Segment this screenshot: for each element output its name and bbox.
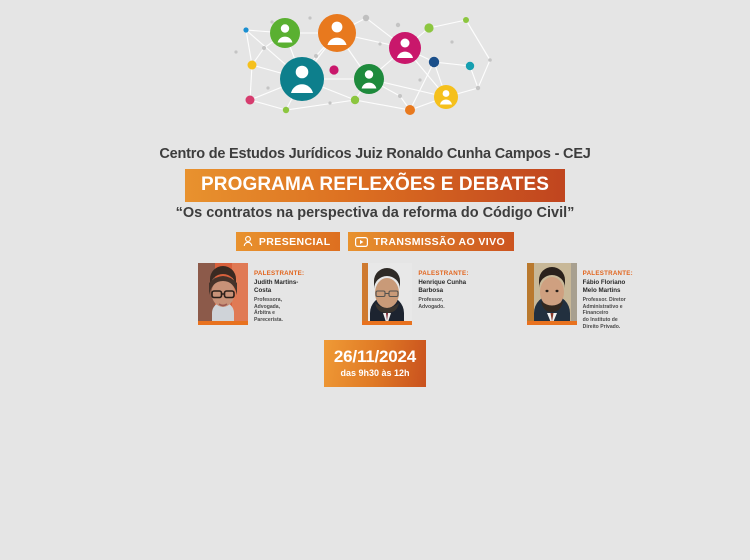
speaker-card: PALESTRANTE: Judith Martins-Costa Profes… <box>198 263 304 330</box>
event-date-box: 26/11/2024 das 9h30 às 12h <box>324 340 426 387</box>
badge-transmissao-ao-vivo[interactable]: TRANSMISSÃO AO VIVO <box>348 232 514 251</box>
program-title-banner: PROGRAMA REFLEXÕES E DEBATES <box>185 169 565 202</box>
person-icon <box>243 236 253 247</box>
event-date: 26/11/2024 <box>324 347 426 367</box>
badge-presencial[interactable]: PRESENCIAL <box>236 232 340 251</box>
speaker-photo <box>527 263 577 325</box>
event-subtitle: “Os contratos na perspectiva da reforma … <box>0 205 750 221</box>
speaker-card: PALESTRANTE: Henrique Cunha Barbosa Prof… <box>362 263 468 330</box>
badge-presencial-label: PRESENCIAL <box>259 236 331 248</box>
speakers-row: PALESTRANTE: Judith Martins-Costa Profes… <box>198 263 558 330</box>
speaker-info: PALESTRANTE: Fábio Floriano Melo Martins… <box>583 263 633 330</box>
event-poster: Centro de Estudos Jurídicos Juiz Ronaldo… <box>0 0 750 560</box>
badge-row: PRESENCIAL TRANSMISSÃO AO VIVO <box>0 232 750 251</box>
speaker-name: Fábio Floriano Melo Martins <box>583 279 633 295</box>
speaker-description: Professor. Diretor Administrativo e Fina… <box>583 297 633 331</box>
speaker-photo <box>198 263 248 325</box>
speaker-description: Professor, Advogado. <box>418 297 468 310</box>
event-time: das 9h30 às 12h <box>324 368 426 378</box>
speaker-name: Henrique Cunha Barbosa <box>418 279 468 295</box>
speaker-role-label: PALESTRANTE: <box>254 270 304 277</box>
speaker-photo <box>362 263 412 325</box>
speaker-info: PALESTRANTE: Henrique Cunha Barbosa Prof… <box>418 263 468 330</box>
speaker-card: PALESTRANTE: Fábio Floriano Melo Martins… <box>527 263 633 330</box>
network-people-illustration <box>0 0 750 126</box>
speaker-name: Judith Martins-Costa <box>254 279 304 295</box>
speaker-info: PALESTRANTE: Judith Martins-Costa Profes… <box>254 263 304 330</box>
speaker-description: Professora, Advogada, Árbitra e Pareceri… <box>254 297 304 324</box>
institution-title: Centro de Estudos Jurídicos Juiz Ronaldo… <box>0 146 750 162</box>
speaker-role-label: PALESTRANTE: <box>583 270 633 277</box>
speaker-role-label: PALESTRANTE: <box>418 270 468 277</box>
badge-live-label: TRANSMISSÃO AO VIVO <box>374 236 505 248</box>
play-icon <box>355 237 368 247</box>
